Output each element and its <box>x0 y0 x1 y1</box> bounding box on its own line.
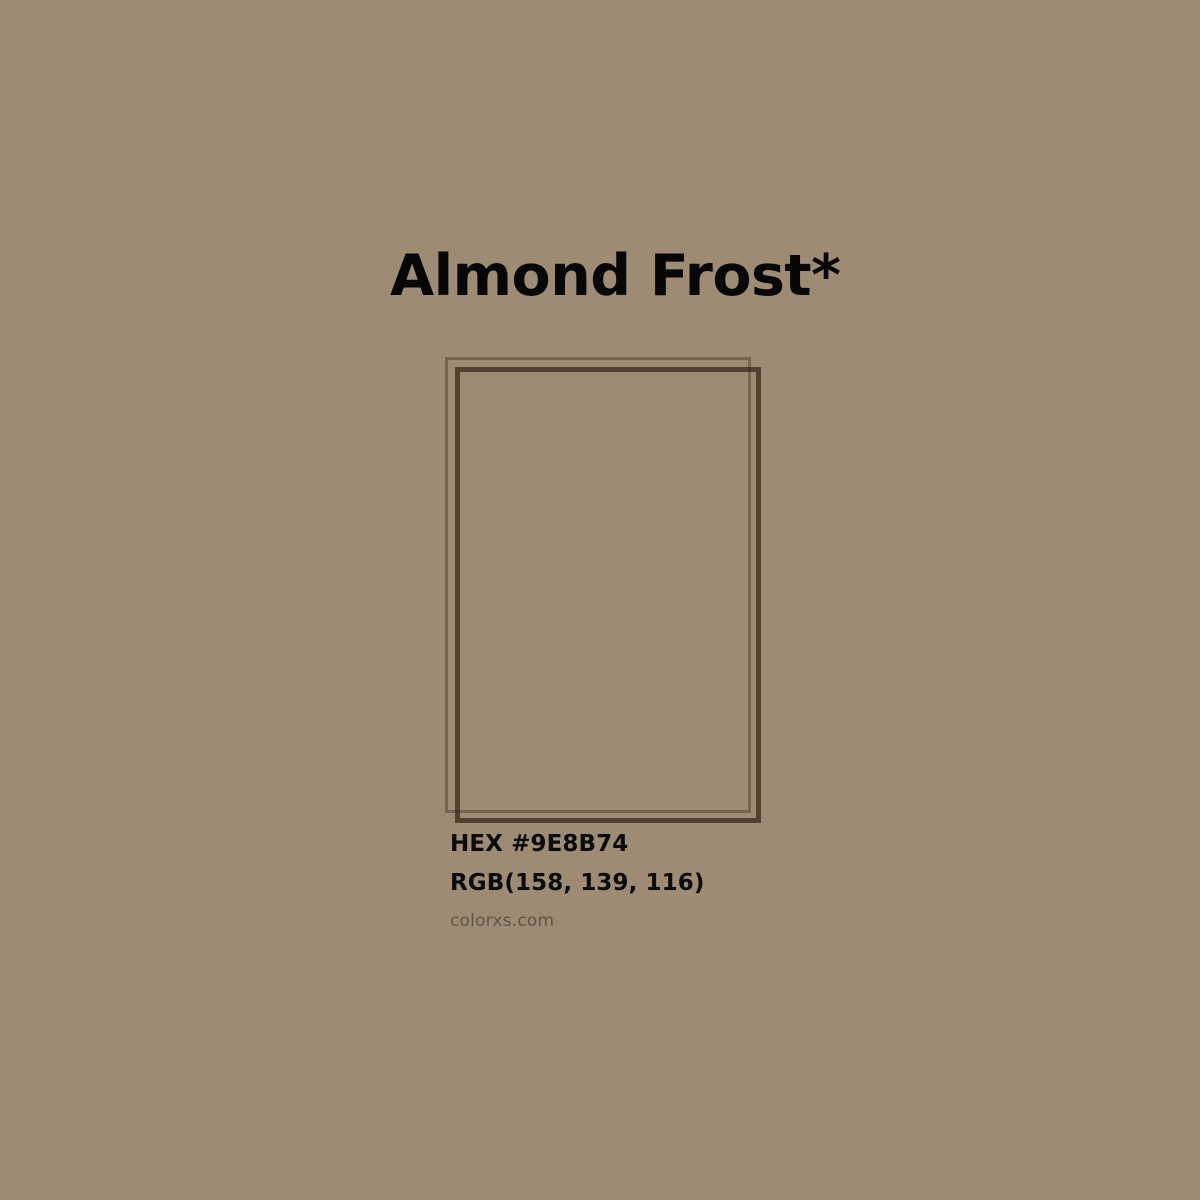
swatch-outline-front <box>455 367 761 823</box>
color-swatch-page: Almond Frost* HEX #9E8B74 RGB(158, 139, … <box>0 0 1200 1200</box>
page-title: Almond Frost* <box>390 247 840 307</box>
rgb-value-label: RGB(158, 139, 116) <box>450 872 950 895</box>
hex-value-label: HEX #9E8B74 <box>450 833 950 856</box>
color-swatch <box>445 357 761 824</box>
site-credit-label: colorxs.com <box>450 913 950 930</box>
color-info-block: HEX #9E8B74 RGB(158, 139, 116) colorxs.c… <box>450 833 950 930</box>
